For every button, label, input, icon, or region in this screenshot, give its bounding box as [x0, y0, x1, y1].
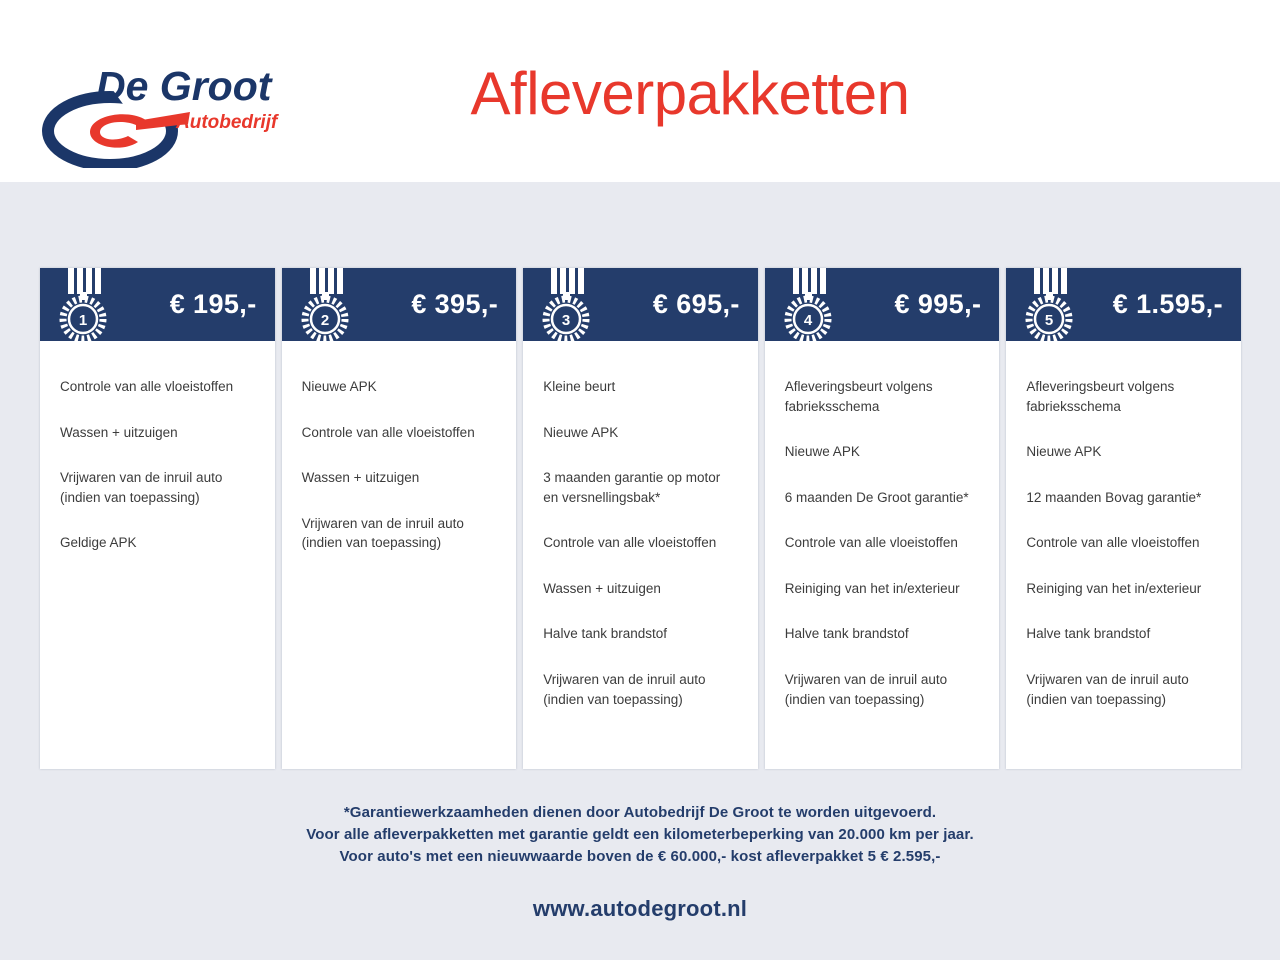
feature-item: 6 maanden De Groot garantie*: [785, 488, 980, 508]
package-header: 1 € 195,-: [40, 268, 275, 341]
feature-item: 3 maanden garantie op motoren versnellin…: [543, 468, 738, 507]
feature-item: Nieuwe APK: [785, 442, 980, 462]
feature-item: Wassen + uitzuigen: [302, 468, 497, 488]
footnote-line: *Garantiewerkzaamheden dienen door Autob…: [0, 802, 1280, 824]
package-header: 5 € 1.595,-: [1006, 268, 1241, 341]
feature-item: Controle van alle vloeistoffen: [60, 377, 255, 397]
feature-item: 12 maanden Bovag garantie*: [1026, 488, 1221, 508]
feature-item: Afleveringsbeurt volgensfabrieksschema: [1026, 377, 1221, 416]
medal-icon: 1: [56, 268, 110, 341]
footer-notes: *Garantiewerkzaamheden dienen door Autob…: [0, 802, 1280, 922]
feature-item: Nieuwe APK: [543, 423, 738, 443]
feature-item: Nieuwe APK: [302, 377, 497, 397]
package-price: € 1.595,-: [1113, 289, 1223, 320]
feature-item: Nieuwe APK: [1026, 442, 1221, 462]
medal-icon: 4: [781, 268, 835, 341]
poster-page: De Groot Autobedrijf Afleverpakketten: [0, 0, 1280, 960]
package-features: Nieuwe APK Controle van alle vloeistoffe…: [282, 341, 517, 769]
feature-item: Controle van alle vloeistoffen: [1026, 533, 1221, 553]
package-header: 3 € 695,-: [523, 268, 758, 341]
package-price: € 395,-: [411, 289, 498, 320]
feature-item: Controle van alle vloeistoffen: [785, 533, 980, 553]
feature-item: Vrijwaren van de inruil auto(indien van …: [785, 670, 980, 709]
package-features: Afleveringsbeurt volgensfabrieksschema N…: [765, 341, 1000, 769]
feature-item: Controle van alle vloeistoffen: [543, 533, 738, 553]
feature-item: Reiniging van het in/exterieur: [1026, 579, 1221, 599]
feature-item: Halve tank brandstof: [543, 624, 738, 644]
package-rank: 3: [562, 312, 570, 329]
package-rank: 4: [804, 312, 813, 329]
page-header: De Groot Autobedrijf Afleverpakketten: [0, 0, 1280, 182]
feature-item: Geldige APK: [60, 533, 255, 553]
package-features: Afleveringsbeurt volgensfabrieksschema N…: [1006, 341, 1241, 769]
feature-item: Controle van alle vloeistoffen: [302, 423, 497, 443]
feature-item: Halve tank brandstof: [1026, 624, 1221, 644]
package-card[interactable]: 2 € 395,- Nieuwe APK Controle van alle v…: [282, 268, 517, 769]
footnote-line: Voor alle afleverpakketten met garantie …: [0, 824, 1280, 846]
package-rank: 5: [1045, 312, 1053, 329]
package-card[interactable]: 1 € 195,- Controle van alle vloeistoffen…: [40, 268, 275, 769]
package-header: 2 € 395,-: [282, 268, 517, 341]
package-header: 4 € 995,-: [765, 268, 1000, 341]
package-price: € 195,-: [170, 289, 257, 320]
website-link[interactable]: www.autodegroot.nl: [0, 896, 1280, 922]
page-title: Afleverpakketten: [0, 64, 1280, 124]
footnote-line: Voor auto's met een nieuwwaarde boven de…: [0, 846, 1280, 868]
feature-item: Halve tank brandstof: [785, 624, 980, 644]
package-features: Controle van alle vloeistoffen Wassen + …: [40, 341, 275, 769]
package-card[interactable]: 3 € 695,- Kleine beurt Nieuwe APK 3 maan…: [523, 268, 758, 769]
feature-item: Vrijwaren van de inruil auto(indien van …: [60, 468, 255, 507]
feature-item: Afleveringsbeurt volgensfabrieksschema: [785, 377, 980, 416]
feature-item: Vrijwaren van de inruil auto(indien van …: [302, 514, 497, 553]
package-card[interactable]: 5 € 1.595,- Afleveringsbeurt volgensfabr…: [1006, 268, 1241, 769]
package-features: Kleine beurt Nieuwe APK 3 maanden garant…: [523, 341, 758, 769]
feature-item: Reiniging van het in/exterieur: [785, 579, 980, 599]
feature-item: Vrijwaren van de inruil auto(indien van …: [1026, 670, 1221, 709]
content-band: 1 € 195,- Controle van alle vloeistoffen…: [0, 182, 1280, 960]
package-price: € 995,-: [895, 289, 982, 320]
feature-item: Wassen + uitzuigen: [543, 579, 738, 599]
feature-item: Kleine beurt: [543, 377, 738, 397]
feature-item: Wassen + uitzuigen: [60, 423, 255, 443]
package-rank: 1: [79, 312, 87, 329]
medal-icon: 2: [298, 268, 352, 341]
feature-item: Vrijwaren van de inruil auto(indien van …: [543, 670, 738, 709]
package-rank: 2: [320, 312, 328, 329]
package-price: € 695,-: [653, 289, 740, 320]
medal-icon: 5: [1022, 268, 1076, 341]
package-card[interactable]: 4 € 995,- Afleveringsbeurt volgensfabrie…: [765, 268, 1000, 769]
medal-icon: 3: [539, 268, 593, 341]
package-card-list: 1 € 195,- Controle van alle vloeistoffen…: [40, 268, 1241, 769]
